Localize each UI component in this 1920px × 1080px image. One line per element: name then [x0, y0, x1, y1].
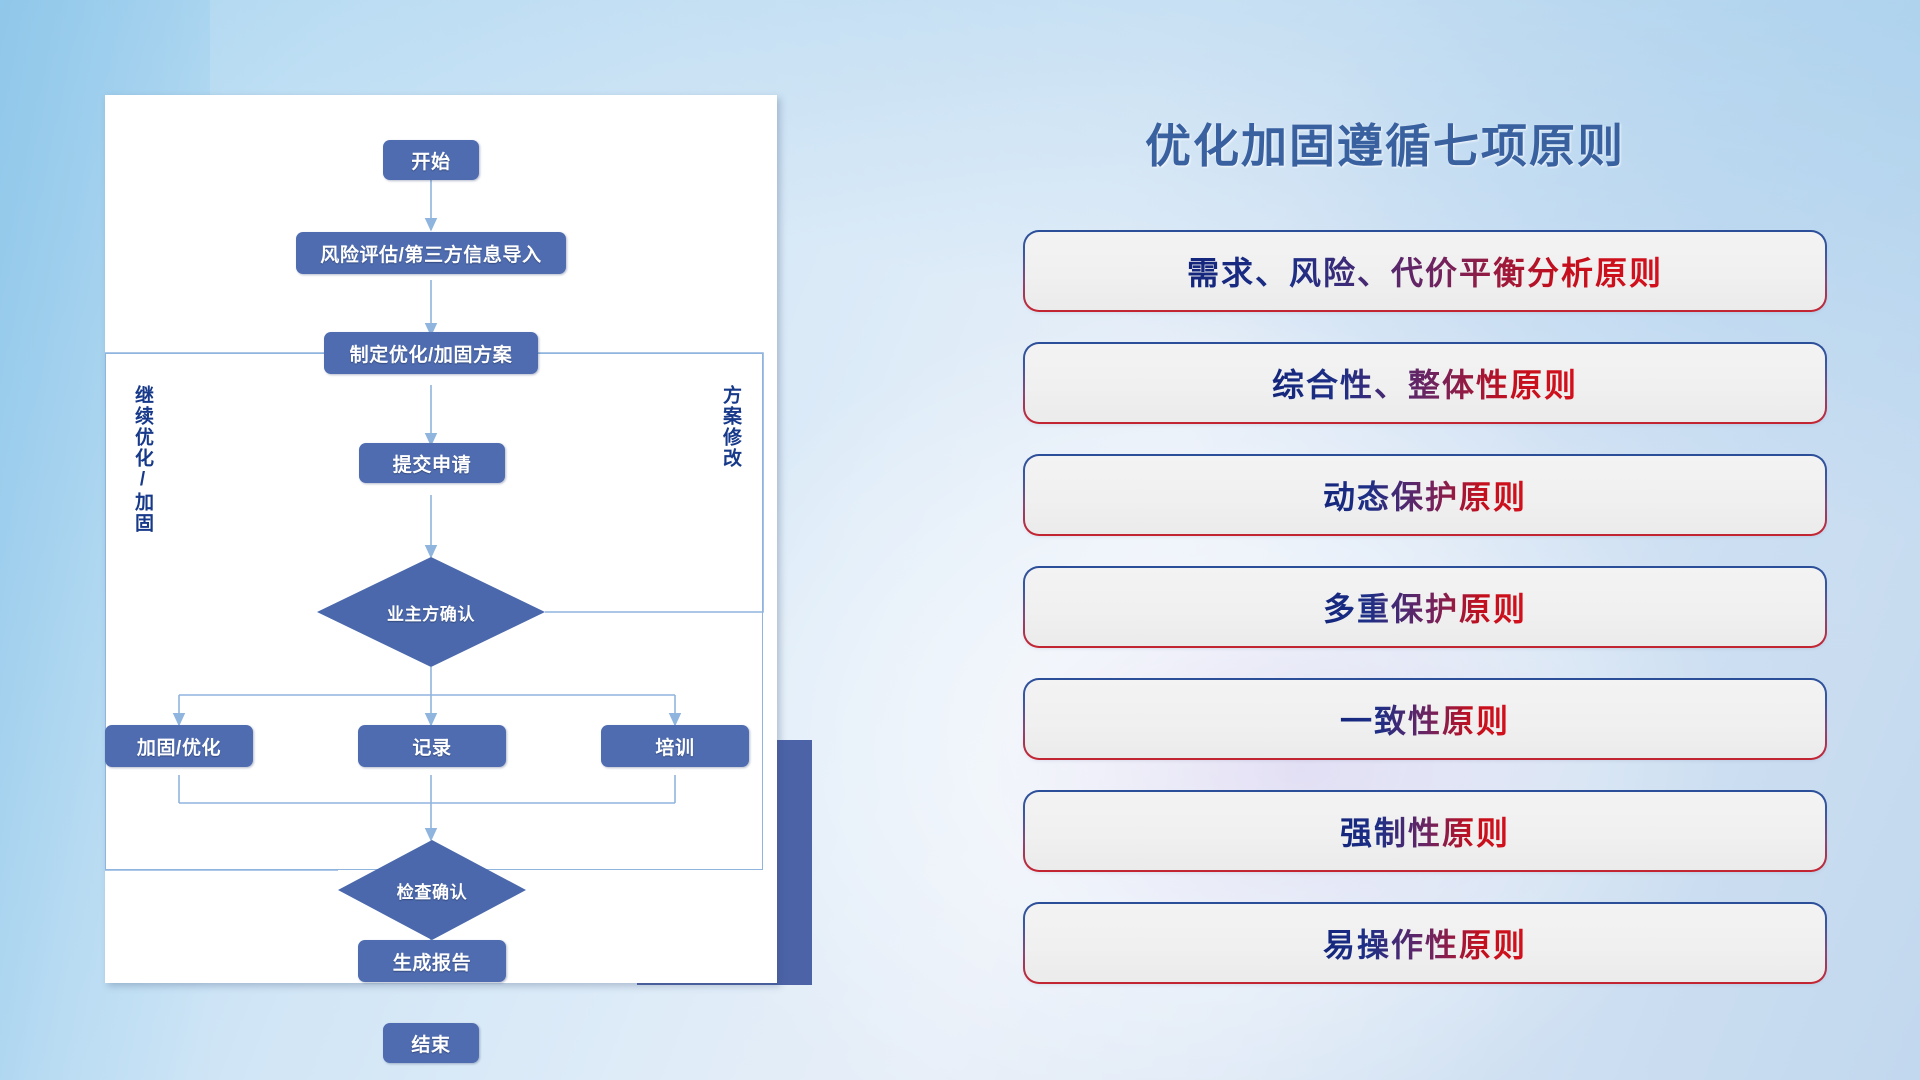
flow-decision-check-confirm[interactable]: 检查确认 [338, 840, 526, 940]
principle-label: 动态保护原则 [1323, 472, 1527, 518]
flow-node-submit-application-label: 提交申请 [393, 450, 471, 477]
page-title: 优化加固遵循七项原则 [1145, 110, 1625, 176]
principle-label: 多重保护原则 [1323, 584, 1527, 630]
principle-label: 一致性原则 [1340, 696, 1510, 742]
flow-decision-check-confirm-label: 检查确认 [397, 878, 467, 903]
principle-item[interactable]: 强制性原则 [1025, 792, 1825, 870]
flow-node-training-label: 培训 [655, 733, 694, 760]
flow-node-submit-application[interactable]: 提交申请 [359, 443, 505, 483]
flow-node-reinforce[interactable]: 加固/优化 [105, 725, 253, 767]
principle-item[interactable]: 需求、风险、代价平衡分析原则 [1025, 232, 1825, 310]
principle-item[interactable]: 多重保护原则 [1025, 568, 1825, 646]
flow-node-start[interactable]: 开始 [383, 140, 479, 180]
principles-panel: 优化加固遵循七项原则 需求、风险、代价平衡分析原则 综合性、整体性原则 动态保护… [1000, 0, 1920, 1080]
flow-node-reinforce-label: 加固/优化 [137, 733, 221, 760]
principle-label: 综合性、整体性原则 [1272, 360, 1578, 406]
principle-item[interactable]: 综合性、整体性原则 [1025, 344, 1825, 422]
principles-list: 需求、风险、代价平衡分析原则 综合性、整体性原则 动态保护原则 多重保护原则 一… [1025, 232, 1825, 1016]
principle-item[interactable]: 易操作性原则 [1025, 904, 1825, 982]
flow-node-end-label: 结束 [411, 1030, 450, 1057]
flow-node-risk-assessment[interactable]: 风险评估/第三方信息导入 [296, 232, 566, 274]
flowchart-card: 开始 风险评估/第三方信息导入 制定优化/加固方案 提交申请 业主方确认 加固/… [105, 95, 777, 983]
principle-label: 需求、风险、代价平衡分析原则 [1187, 248, 1663, 294]
flow-node-risk-assessment-label: 风险评估/第三方信息导入 [320, 240, 541, 267]
flowchart-panel: 开始 风险评估/第三方信息导入 制定优化/加固方案 提交申请 业主方确认 加固/… [0, 0, 830, 1080]
principle-label: 易操作性原则 [1323, 920, 1527, 966]
flow-node-record-label: 记录 [412, 733, 451, 760]
flow-node-plan[interactable]: 制定优化/加固方案 [324, 332, 538, 374]
principle-item[interactable]: 动态保护原则 [1025, 456, 1825, 534]
flow-node-generate-report-label: 生成报告 [393, 948, 471, 975]
flow-node-record[interactable]: 记录 [358, 725, 506, 767]
flow-edge-label-continue-optimize: 继续优化/加固 [133, 385, 152, 534]
flow-edge-label-plan-revision: 方案修改 [721, 385, 740, 469]
principle-item[interactable]: 一致性原则 [1025, 680, 1825, 758]
flow-node-end[interactable]: 结束 [383, 1023, 479, 1063]
flow-node-generate-report[interactable]: 生成报告 [358, 940, 506, 982]
flow-node-plan-label: 制定优化/加固方案 [350, 340, 513, 367]
flow-node-start-label: 开始 [411, 147, 450, 174]
flow-node-training[interactable]: 培训 [601, 725, 749, 767]
flow-decision-owner-confirm-label: 业主方确认 [387, 600, 475, 625]
principle-label: 强制性原则 [1340, 808, 1510, 854]
flow-decision-owner-confirm[interactable]: 业主方确认 [317, 557, 545, 667]
